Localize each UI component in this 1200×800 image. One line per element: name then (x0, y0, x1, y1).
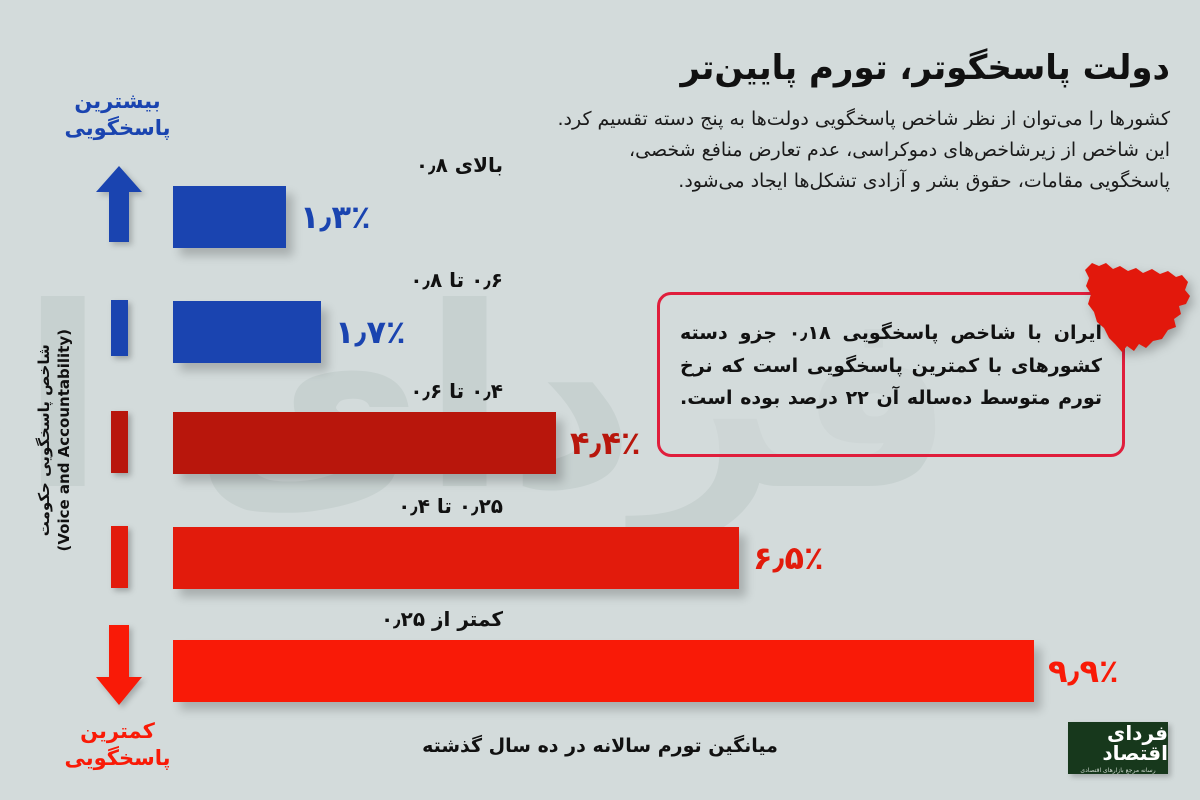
arrow-up-icon (96, 166, 142, 242)
bar-category-label: کمتر از ۰٫۲۵ (173, 607, 503, 631)
iran-callout-box: ایران با شاخص پاسخگویی ۰٫۱۸ جزو دسته کشو… (657, 292, 1125, 457)
bar-category-label: ۰٫۲۵ تا ۰٫۴ (173, 494, 503, 518)
axis-tick-marker (111, 526, 128, 588)
logo-sub-text: رسانه مرجع بازارهای اقتصادی (1080, 767, 1155, 774)
bar-category-label: ۰٫۴ تا ۰٫۶ (173, 379, 503, 403)
arrow-down-icon (96, 625, 142, 705)
bar (173, 640, 1034, 702)
bar-value-label: ۴٫۴٪ (570, 424, 641, 462)
bar (173, 186, 286, 248)
iran-map-icon (1082, 256, 1194, 362)
bar-category-label: بالای ۰٫۸ (173, 153, 503, 177)
iran-callout-text: ایران با شاخص پاسخگویی ۰٫۱۸ جزو دسته کشو… (680, 317, 1102, 415)
bar-value-label: ۶٫۵٪ (753, 539, 824, 577)
bar-value-label: ۱٫۷٪ (335, 313, 406, 351)
subtitle-line-3: پاسخگویی مقامات، حقوق بشر و آزادی تشکل‌ه… (430, 166, 1170, 197)
publisher-logo: فردای اقتصاد رسانه مرجع بازارهای اقتصادی (1068, 722, 1168, 774)
bar (173, 412, 556, 474)
bar-category-label: ۰٫۶ تا ۰٫۸ (173, 268, 503, 292)
axis-highest-accountability-label: بیشترین پاسخگویی (55, 88, 180, 142)
logo-main-text: فردای اقتصاد (1068, 723, 1168, 763)
y-axis-title-en: (Voice and Accountability) (55, 329, 73, 551)
y-axis-title: شاخص پاسخگویی حکومت (Voice and Accountab… (34, 280, 75, 600)
axis-top-label-line-2: پاسخگویی (55, 115, 180, 142)
x-axis-caption: میانگین تورم سالانه در ده سال گذشته (0, 735, 1200, 757)
infographic-canvas: فردای اقتصاد دولت پاسخگوتر، تورم پایین‌ت… (0, 0, 1200, 800)
subtitle-line-1: کشورها را می‌توان از نظر شاخص پاسخگویی د… (430, 104, 1170, 135)
subtitle-line-2: این شاخص از زیرشاخص‌های دموکراسی، عدم تع… (430, 135, 1170, 166)
axis-tick-marker (111, 411, 128, 473)
axis-tick-marker (111, 300, 128, 356)
bar-value-label: ۱٫۳٪ (300, 198, 371, 236)
bar-value-label: ۹٫۹٪ (1048, 652, 1119, 690)
page-subtitle: کشورها را می‌توان از نظر شاخص پاسخگویی د… (430, 104, 1170, 196)
bar (173, 527, 739, 589)
page-title: دولت پاسخگوتر، تورم پایین‌تر (430, 48, 1170, 88)
axis-top-label-line-1: بیشترین (55, 88, 180, 115)
y-axis-title-fa: شاخص پاسخگویی حکومت (35, 344, 53, 536)
bar (173, 301, 321, 363)
